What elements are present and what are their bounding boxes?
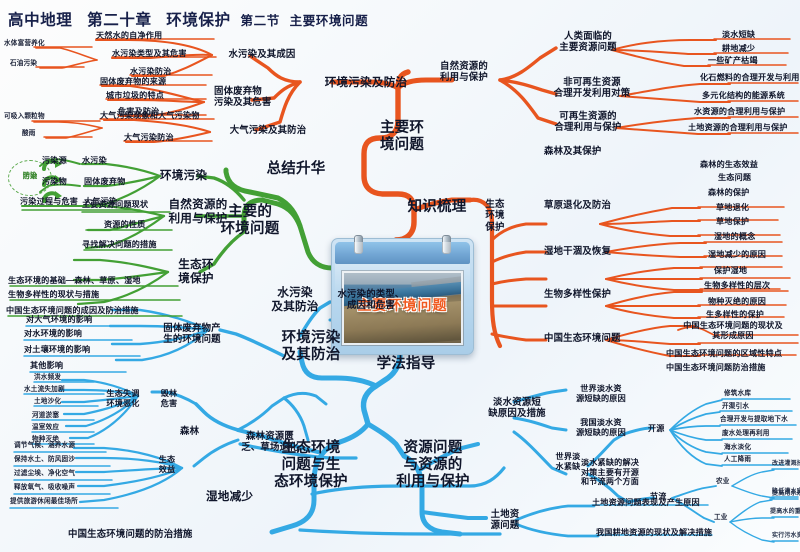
node-green-eco-protect[interactable]: 生态环境保护 [168, 258, 224, 286]
leaf-artificial-rain: 人工降雨 [724, 456, 751, 464]
node-green-env-pollution[interactable]: 环境污染 [160, 169, 207, 183]
leaf-release-oxygen: 释放氧气、吸收噪声 [14, 484, 75, 492]
leaf-city-garbage-feature: 城市垃圾的特点 [106, 91, 164, 101]
leaf-resource-nature: 资源的性质 [104, 220, 145, 230]
leaf-oil-pollution: 石油污染 [10, 60, 37, 68]
title-chapter: 第二十章 [87, 12, 151, 29]
leaf-flood-frequent: 洪水频发 [34, 374, 61, 382]
node-forest-protection[interactable]: 森林及其保护 [544, 145, 601, 156]
leaf-water-efficiency: 提高用水效率 [772, 491, 800, 498]
hub-summary[interactable]: 总结升华 [267, 161, 326, 178]
node-forest-scarcity: 森林资源匮乏、草场退化 [228, 430, 312, 453]
leaf-farmland-decrease: 耕地减少 [722, 44, 755, 54]
node-eco-protection[interactable]: 生态环境保护 [478, 198, 512, 232]
leaf-wetland-decrease-cause: 湿地减少的原因 [708, 250, 766, 260]
leaf-species-extinction: 物种灭绝的原因 [708, 297, 766, 307]
leaf-conserve-soil: 保持水土、防风固沙 [14, 456, 75, 464]
leaf-resource-status: 主要资源问题现状 [82, 200, 148, 210]
leaf-land-problem-cause: 土地资源问题表现及产生原因 [592, 498, 700, 508]
node-blue-pollution: 环境污染及其防治 [274, 330, 348, 364]
hub-method[interactable]: 学法指导 [377, 356, 436, 373]
leaf-diversified-energy: 多元化结构的能源系统 [702, 91, 785, 101]
leaf-biodiversity-levels: 生物多样性的层次 [704, 281, 770, 291]
node-kaiyuan[interactable]: 开源 [648, 424, 665, 434]
hub-knowledge[interactable]: 知识梳理 [408, 199, 467, 216]
leaf-canal-water: 开渠引水 [722, 403, 749, 411]
node-eco-imbalance[interactable]: 生态失调环境恶化 [94, 389, 152, 408]
node-land-resource-problem[interactable]: 土地资源问题 [478, 508, 532, 531]
node-freshwater-shortage-measures[interactable]: 淡水资源短缺原因及措施 [478, 396, 556, 419]
leaf-pollutant: 污染物 [42, 177, 67, 187]
node-air-pollution-control[interactable]: 大气污染及其防治 [230, 124, 307, 135]
leaf-wetland-concept: 湿地的概念 [714, 232, 755, 242]
leaf-land-desertification: 土地沙化 [34, 398, 61, 406]
node-deforestation-harm[interactable]: 毁林危害 [152, 389, 186, 408]
leaf-pollution-process-harm: 污染过程与危害 [20, 197, 78, 207]
node-jieliu[interactable]: 节流 [650, 492, 667, 502]
node-renewable-protection[interactable]: 可再生资源的合理利用与保护 [542, 110, 634, 133]
node-eco-benefit[interactable]: 生态效益 [150, 455, 184, 474]
leaf-land-resource-use: 土地资源的合理利用与保护 [688, 123, 788, 133]
leaf-eco-problem: 生态问题 [718, 173, 751, 183]
spiral-ring-right [442, 235, 451, 254]
leaf-water-resource-use: 水资源的合理利用与保护 [694, 107, 785, 117]
leaf-natural-water-purification: 天然水的自净作用 [96, 31, 162, 41]
leaf-soil-erosion: 水土流失加剧 [24, 386, 65, 394]
leaf-china-eco-status: 中国生态环境问题的现状及其形成原因 [666, 321, 800, 340]
node-agriculture[interactable]: 农业 [716, 478, 730, 486]
leaf-eutrophication: 水体富营养化 [4, 40, 45, 48]
node-china-eco-problems[interactable]: 中国生态环境问题 [544, 332, 621, 343]
node-green-resources[interactable]: 自然资源的利用与保护 [164, 198, 232, 226]
leaf-world-freshwater-cause: 世界淡水资源短缺的原因 [566, 384, 636, 403]
leaf-tourism-place: 提供旅游休闲最佳场所 [10, 498, 78, 506]
leaf-sewage-resourceization: 实行污水资源化 [772, 533, 800, 540]
leaf-pollution-source: 污染源 [42, 156, 67, 166]
leaf-groundwater: 合理开发与提取地下水 [720, 416, 788, 424]
leaf-improve-irrigation: 改进灌溉技术 [772, 461, 800, 468]
node-industry[interactable]: 工业 [714, 514, 728, 522]
node-pollution-control[interactable]: 环境污染及防治 [325, 76, 408, 90]
spiral-ring-left [354, 235, 363, 254]
leaf-biodiversity-status: 生物多样性的现状与措施 [8, 290, 99, 300]
leaf-protect-wetland: 保护湿地 [714, 266, 747, 276]
leaf-water-pollution-types: 水污染类型及其危害 [112, 49, 187, 59]
leaf-impact-atmosphere: 对大气环境的影响 [26, 315, 92, 325]
leaf-forest-eco-benefit: 森林的生态效益 [700, 160, 758, 170]
leaf-china-eco-measures: 中国生态环境问题防治措施 [666, 363, 766, 373]
leaf-wastewater-reuse: 废水处理再利用 [722, 430, 770, 438]
leaf-regulate-climate: 调节气候、涵养水源 [14, 442, 75, 450]
node-world-water-scarcity[interactable]: 世界淡水紧缺 [544, 452, 592, 471]
node-wetland-restoration[interactable]: 湿地干涸及恢复 [544, 245, 611, 256]
node-forest[interactable]: 森林 [180, 425, 199, 436]
leaf-solid-waste-source: 固体废弃物的来源 [100, 77, 166, 87]
leaf-freshwater-shortage: 淡水短缺 [722, 30, 755, 40]
leaf-green-solid-waste: 固体废弃物 [84, 177, 125, 187]
leaf-mineral-depletion: 一些矿产枯竭 [708, 56, 758, 66]
leaf-resource-measures: 寻找解决问题的措施 [82, 240, 157, 250]
leaf-river-silting: 河道淤塞 [32, 412, 59, 420]
mindmap-canvas: 高中地理 第二十章 环境保护 第二节 主要环境问题 主要环境问题 知识梳理 总结… [0, 0, 800, 552]
leaf-biodiversity-protect: 生多样性的保护 [706, 310, 764, 320]
leaf-china-freshwater-cause: 我国淡水资源短缺的原因 [566, 418, 636, 437]
leaf-water-pollution-type-cause: 水污染的类型、成因和危害 [330, 288, 412, 311]
node-blue-resource-problem: 资源问题与资源的利用与保护 [394, 440, 472, 491]
title-subject: 主要环境问题 [290, 14, 369, 28]
leaf-fossil-fuel-use: 化石燃料的合理开发与利用 [700, 73, 800, 83]
node-biodiversity-protection[interactable]: 生物多样性保护 [544, 288, 611, 299]
orange-root: 主要环境问题 [370, 120, 434, 154]
node-nonrenewable-strategy[interactable]: 非可再生资源合理开发利用对策 [540, 76, 644, 99]
leaf-acid-rain: 酸雨 [22, 130, 36, 138]
node-blue-water-pollution[interactable]: 水污染及其防治 [262, 286, 328, 314]
leaf-filter-dust: 过滤尘埃、净化空气 [14, 470, 75, 478]
leaf-water-reuse-rate: 提高水的重复利用率 [770, 509, 800, 516]
leaf-build-reservoir: 修筑水库 [724, 390, 751, 398]
node-solid-waste-harm[interactable]: 固体废弃物污染及其危害 [214, 85, 292, 108]
leaf-inhalable-particles: 可吸入颗粒物 [4, 113, 45, 121]
leaf-china-eco-regional: 中国生态环境问题的区域性特点 [666, 349, 782, 359]
title-section: 第二节 [241, 14, 280, 28]
title-main: 高中地理 [8, 12, 72, 29]
node-major-resource-problems[interactable]: 人类面临的主要资源问题 [546, 30, 630, 53]
node-wetland-decrease[interactable]: 湿地减少 [206, 490, 253, 504]
leaf-air-pollutants: 大气污染现象和大气污染物 [100, 111, 200, 121]
leaf-impact-water: 对水环境的影响 [24, 329, 82, 339]
node-china-eco-prevention: 中国生态环境问题的防治措施 [68, 528, 192, 539]
leaf-greenhouse-effect: 温室效应 [32, 424, 59, 432]
leaf-farmland-status-measures: 我国耕地资源的现状及解决措施 [596, 528, 712, 538]
leaf-eco-base: 生态环境的基础—森林、草原、湿地 [8, 276, 141, 286]
node-water-pollution-cause[interactable]: 水污染及其成因 [228, 48, 295, 59]
leaf-water-pollution-prevention: 水污染防治 [130, 67, 171, 77]
leaf-forest-protect: 森林的保护 [708, 188, 749, 198]
leaf-air-pollution-prevention: 大气污染防治 [124, 133, 174, 143]
title-topic: 环境保护 [166, 12, 230, 29]
node-natural-resources-use[interactable]: 自然资源的利用与保护 [426, 60, 502, 83]
node-grassland-degradation[interactable]: 草原退化及防治 [544, 199, 611, 210]
leaf-impact-soil: 对土壤环境的影响 [24, 345, 90, 355]
leaf-impact-other: 其他影响 [30, 361, 63, 371]
node-solid-waste-env-problem[interactable]: 固体废弃物产生的环境问题 [150, 322, 234, 345]
page-title: 高中地理 第二十章 环境保护 第二节 主要环境问题 [8, 8, 368, 30]
leaf-grassland-protect: 草地保护 [716, 217, 749, 227]
leaf-green-water-pollution: 水污染 [82, 156, 107, 166]
leaf-grassland-degrade: 草地退化 [716, 203, 749, 213]
leaf-desalination: 海水淡化 [724, 444, 751, 452]
